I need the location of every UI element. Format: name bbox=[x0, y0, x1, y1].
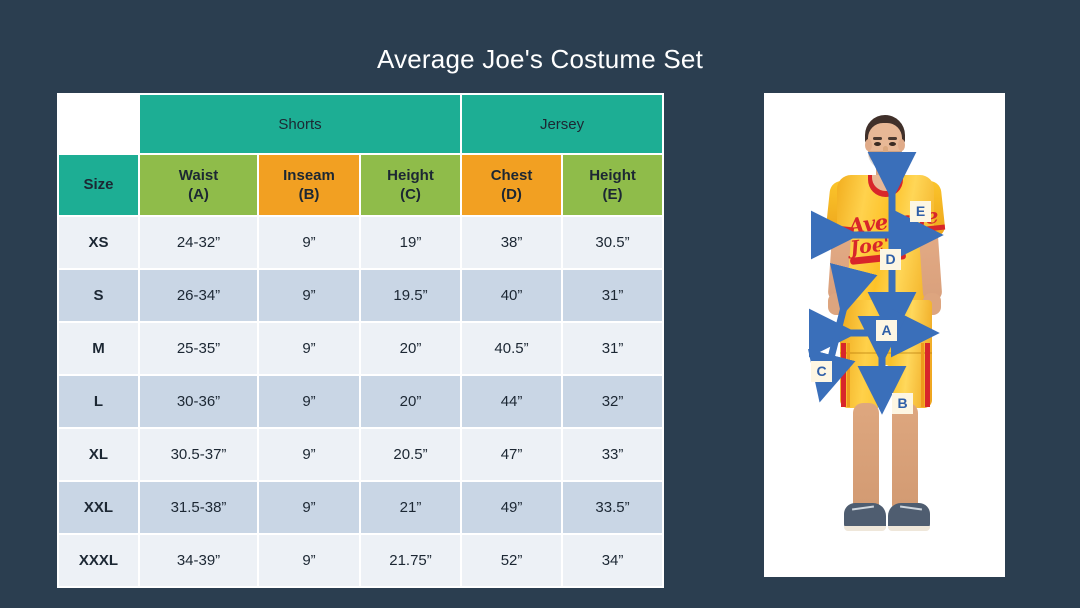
shorts-stripe-right-inner bbox=[921, 343, 924, 407]
marker-label-d: D bbox=[880, 249, 901, 270]
shorts-seam bbox=[840, 352, 932, 354]
table-group-header-row: ShortsJersey bbox=[59, 95, 662, 153]
cell-short-height: 19.5” bbox=[361, 270, 460, 321]
cell-size: XXL bbox=[59, 482, 138, 533]
marker-label-b: B bbox=[892, 393, 913, 414]
cell-inseam: 9” bbox=[259, 535, 359, 586]
cell-size: M bbox=[59, 323, 138, 374]
column-header-d: Chest(D) bbox=[462, 155, 561, 215]
cell-chest: 38” bbox=[462, 217, 561, 268]
table-column-header-row: SizeWaist(A)Inseam(B)Height(C)Chest(D)He… bbox=[59, 155, 662, 215]
cell-short-height: 19” bbox=[361, 217, 460, 268]
page-title: Average Joe's Costume Set bbox=[0, 44, 1080, 75]
table-row: XXXL34-39”9”21.75”52”34” bbox=[59, 535, 662, 586]
cell-waist: 30-36” bbox=[140, 376, 257, 427]
column-header-sublabel: (C) bbox=[361, 185, 460, 204]
cell-size: L bbox=[59, 376, 138, 427]
cell-short-height: 20” bbox=[361, 376, 460, 427]
column-header-b: Inseam(B) bbox=[259, 155, 359, 215]
cell-chest: 40.5” bbox=[462, 323, 561, 374]
table-corner-blank bbox=[59, 95, 138, 153]
column-header-label: Height bbox=[589, 167, 636, 184]
column-header-a: Waist(A) bbox=[140, 155, 257, 215]
column-header-label: Inseam bbox=[283, 167, 335, 184]
cell-chest: 49” bbox=[462, 482, 561, 533]
model-eyebrow-right bbox=[888, 137, 897, 140]
slide-canvas: Average Joe's Costume Set ShortsJerseySi… bbox=[0, 0, 1080, 608]
model-eye-right bbox=[889, 142, 896, 146]
cell-inseam: 9” bbox=[259, 323, 359, 374]
model-eye-left bbox=[874, 142, 881, 146]
cell-waist: 26-34” bbox=[140, 270, 257, 321]
model-arm-right bbox=[919, 228, 943, 301]
model-eyebrow-left bbox=[873, 137, 882, 140]
model-leg-left bbox=[853, 403, 879, 511]
cell-waist: 30.5-37” bbox=[140, 429, 257, 480]
group-header-jersey: Jersey bbox=[462, 95, 662, 153]
cell-short-height: 21” bbox=[361, 482, 460, 533]
cell-short-height: 20” bbox=[361, 323, 460, 374]
cell-jersey-height: 34” bbox=[563, 535, 662, 586]
marker-label-a: A bbox=[876, 320, 897, 341]
shorts-stripe-right bbox=[925, 343, 930, 407]
column-header-sublabel: (D) bbox=[462, 185, 561, 204]
cell-waist: 31.5-38” bbox=[140, 482, 257, 533]
cell-inseam: 9” bbox=[259, 482, 359, 533]
cell-waist: 34-39” bbox=[140, 535, 257, 586]
model-nose bbox=[883, 146, 888, 155]
cell-jersey-height: 31” bbox=[563, 270, 662, 321]
cell-short-height: 20.5” bbox=[361, 429, 460, 480]
cell-inseam: 9” bbox=[259, 376, 359, 427]
cell-size: S bbox=[59, 270, 138, 321]
cell-jersey-height: 30.5” bbox=[563, 217, 662, 268]
cell-chest: 52” bbox=[462, 535, 561, 586]
table-row: S26-34”9”19.5”40”31” bbox=[59, 270, 662, 321]
column-header-label: Size bbox=[83, 176, 113, 193]
column-header-label: Chest bbox=[491, 167, 533, 184]
table-row: XS24-32”9”19”38”30.5” bbox=[59, 217, 662, 268]
product-photo-panel: Average Joe's bbox=[764, 93, 1005, 577]
shorts-stripe-left bbox=[841, 343, 846, 407]
table-row: XXL31.5-38”9”21”49”33.5” bbox=[59, 482, 662, 533]
cell-jersey-height: 32” bbox=[563, 376, 662, 427]
cell-chest: 40” bbox=[462, 270, 561, 321]
cell-chest: 47” bbox=[462, 429, 561, 480]
shorts-leg-gap bbox=[878, 365, 892, 409]
table-row: L30-36”9”20”44”32” bbox=[59, 376, 662, 427]
column-header-sublabel: (E) bbox=[563, 185, 662, 204]
cell-waist: 24-32” bbox=[140, 217, 257, 268]
model-ear-left bbox=[865, 139, 872, 151]
cell-jersey-height: 33.5” bbox=[563, 482, 662, 533]
cell-chest: 44” bbox=[462, 376, 561, 427]
column-header-sublabel: (A) bbox=[140, 185, 257, 204]
cell-inseam: 9” bbox=[259, 217, 359, 268]
column-header-sublabel: (B) bbox=[259, 185, 359, 204]
cell-inseam: 9” bbox=[259, 270, 359, 321]
cell-inseam: 9” bbox=[259, 429, 359, 480]
shorts-stripe-left-inner bbox=[847, 343, 850, 407]
cell-jersey-height: 33” bbox=[563, 429, 662, 480]
marker-label-c: C bbox=[811, 361, 832, 382]
model-leg-right bbox=[892, 403, 918, 511]
table-row: XL30.5-37”9”20.5”47”33” bbox=[59, 429, 662, 480]
size-chart-table: ShortsJerseySizeWaist(A)Inseam(B)Height(… bbox=[57, 93, 664, 588]
column-header-label: Waist bbox=[179, 167, 218, 184]
column-header-size: Size bbox=[59, 155, 138, 215]
column-header-label: Height bbox=[387, 167, 434, 184]
cell-size: XXXL bbox=[59, 535, 138, 586]
marker-label-e: E bbox=[910, 201, 931, 222]
model-sole-left bbox=[844, 526, 886, 531]
group-header-shorts: Shorts bbox=[140, 95, 460, 153]
model-mouth bbox=[877, 158, 894, 162]
cell-waist: 25-35” bbox=[140, 323, 257, 374]
model-sole-right bbox=[888, 526, 930, 531]
cell-jersey-height: 31” bbox=[563, 323, 662, 374]
table-row: M25-35”9”20”40.5”31” bbox=[59, 323, 662, 374]
cell-size: XL bbox=[59, 429, 138, 480]
cell-size: XS bbox=[59, 217, 138, 268]
column-header-c: Height(C) bbox=[361, 155, 460, 215]
cell-short-height: 21.75” bbox=[361, 535, 460, 586]
model-ear-right bbox=[898, 139, 905, 151]
column-header-e: Height(E) bbox=[563, 155, 662, 215]
